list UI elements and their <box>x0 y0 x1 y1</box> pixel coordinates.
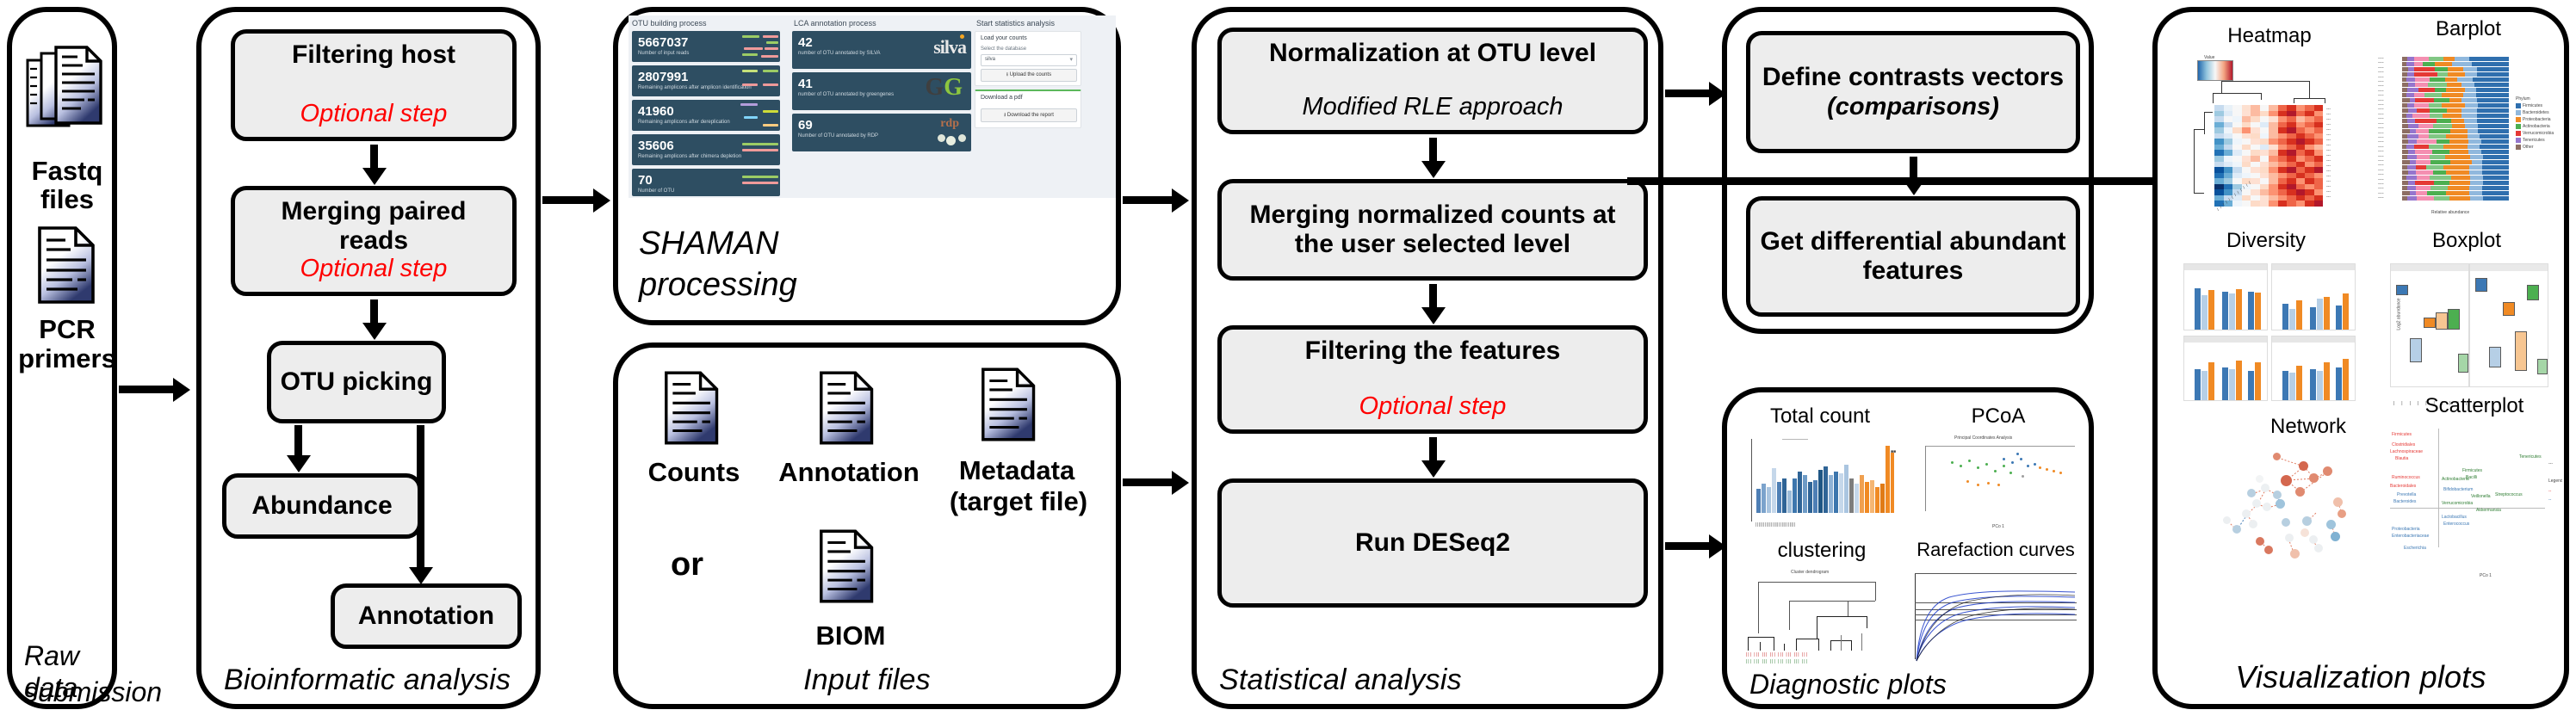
step-merging-paired-reads-title: Merging paired reads <box>244 197 504 255</box>
counts-file-label: Counts <box>629 458 759 486</box>
shaman-column-header-stats: Start statistics analysis <box>976 19 1055 28</box>
pcoa-xlabel: PCo 1 <box>1992 524 2004 529</box>
step-filtering-features[interactable]: Filtering the features Optional step <box>1217 325 1648 434</box>
panel-diagnostic-plots: Total count —————— <box>1722 387 2094 709</box>
arrow-merging-to-otu <box>370 299 378 324</box>
metadata-file-icon <box>980 365 1042 448</box>
upload-icon: ⭳ <box>1006 72 1008 77</box>
boxplot-plot: Log2 abundance |||||||||||| <box>2383 260 2552 406</box>
step-annotation[interactable]: Annotation <box>331 583 522 649</box>
arrow-statistical-to-diagnostic <box>1665 542 1710 550</box>
shaman-otu-card-5-value: 70 <box>638 173 653 188</box>
thumbnail-diversity: Diversity <box>2171 229 2361 410</box>
thumbnail-total-count-title: Total count <box>1736 404 1904 429</box>
shaman-lca-card-silva: 42 number of OTU annotated by SILVA silv… <box>792 31 971 69</box>
thumbnail-total-count: Total count —————— <box>1736 404 1904 534</box>
arrow-rawdata-to-bioinformatic <box>119 386 174 393</box>
shaman-column-header-otu: OTU building process <box>632 19 707 28</box>
silva-mark-icon <box>960 34 964 39</box>
step-define-contrasts-vectors-sub: (comparisons) <box>1827 94 1999 123</box>
step-filtering-features-title: Filtering the features <box>1305 336 1561 366</box>
clustering-plot: Cluster dendrogram <box>1744 570 1899 670</box>
total-count-plot: —————— <box>1751 435 1898 528</box>
thumbnail-rarefaction-title: Rarefaction curves <box>1899 539 2092 561</box>
shaman-lca-card-rdp-value: 69 <box>798 118 813 133</box>
greengenes-logo-icon: GG <box>925 74 963 102</box>
rarefaction-plot <box>1911 571 2078 668</box>
fastq-files-icon <box>24 45 114 157</box>
shaman-lca-card-rdp: 69 Number of OTU annotated by RDP rdp <box>792 114 971 151</box>
panel-visualization-plots: Heatmap Value <box>2152 7 2569 709</box>
bioinformatic-caption: Bioinformatic analysis <box>201 664 558 697</box>
shaman-otu-card-3-desc: Remaining amplicons after dereplication <box>638 120 730 125</box>
arrow-filtering-to-deseq2 <box>1429 437 1437 461</box>
thumbnail-barplot: Barplot --------------------------------… <box>2375 17 2562 224</box>
step-otu-picking[interactable]: OTU picking <box>267 341 446 423</box>
heatmap-color-key-label: Value <box>2204 55 2214 60</box>
shaman-otu-card-2: 2807991 Remaining amplicons after amplic… <box>632 65 780 96</box>
rdp-dot-icon <box>938 134 945 142</box>
step-get-differential-abundant-features-title: Get differential abundant features <box>1759 227 2067 285</box>
step-merging-paired-reads-sub: Optional step <box>300 256 448 285</box>
thumbnail-heatmap-title: Heatmap <box>2178 24 2361 48</box>
fastq-files-label: Fastq files <box>12 157 122 214</box>
step-normalization[interactable]: Normalization at OTU level Modified RLE … <box>1217 28 1648 134</box>
panel-contrasts: Define contrasts vectors (comparisons) G… <box>1722 7 2094 334</box>
plot-xticks: |||||||||||||||||||||||||| <box>1756 522 1796 528</box>
arrow-contrasts-to-differential <box>1910 157 1917 179</box>
thumbnail-pcoa-title: PCoA <box>1908 404 2089 429</box>
line-contrasts-to-visualization <box>1627 177 2170 185</box>
metadata-file-label-line2: (target file) <box>928 487 1109 515</box>
pcoa-subtitle: Principal Coordinates Analysis <box>1954 435 2012 441</box>
panel-input-files: Counts Annotation <box>613 343 1121 709</box>
shaman-otu-card-2-value: 2807991 <box>638 70 688 84</box>
plot-subtitle: —————— <box>1782 437 1808 442</box>
pcr-primers-icon <box>36 225 102 309</box>
arrow-otu-to-abundance <box>294 425 302 456</box>
thumbnail-clustering: clustering Cluster dendrogram <box>1736 539 1908 676</box>
sparkline-icon <box>742 35 780 58</box>
shaman-lca-card-greengenes-desc: number of OTU annotated by greengenes <box>798 92 894 97</box>
shaman-load-counts-title: Load your counts <box>981 35 1027 41</box>
step-filtering-host[interactable]: Filtering host Optional step <box>231 29 517 141</box>
panel-statistical-analysis: Normalization at OTU level Modified RLE … <box>1192 7 1663 709</box>
barplot-plot: ----------------------------------------… <box>2378 48 2561 219</box>
shaman-screenshot: OTU building process LCA annotation proc… <box>629 15 1116 198</box>
statistical-caption: Statistical analysis <box>1197 664 1681 697</box>
shaman-otu-card-2-desc: Remaining amplicons after amplicon ident… <box>638 85 752 90</box>
sparkline-icon <box>742 176 780 189</box>
thumbnail-scatterplot-title: Scatterplot <box>2383 394 2566 418</box>
step-merging-paired-reads[interactable]: Merging paired reads Optional step <box>231 186 517 296</box>
heatmap-grid <box>2214 105 2323 207</box>
shaman-download-report-label: Download the report <box>1007 113 1054 118</box>
step-define-contrasts-vectors-title: Define contrasts vectors <box>1762 63 2064 92</box>
boxplot-ylabel: Log2 abundance <box>2397 298 2402 330</box>
pcr-primers-label-line2: primers <box>12 344 122 373</box>
shaman-lca-card-greengenes: 41 number of OTU annotated by greengenes… <box>792 72 971 110</box>
shaman-select-database-label: Select the database <box>981 46 1026 52</box>
workflow-diagram: Fastq files PCR primers Raw data submiss <box>0 0 2576 716</box>
shaman-lca-card-silva-value: 42 <box>798 35 813 50</box>
chevron-down-icon: ▾ <box>1069 56 1073 63</box>
shaman-caption-line2: processing <box>639 267 797 304</box>
step-abundance[interactable]: Abundance <box>222 473 422 539</box>
sparkline-icon <box>740 103 780 127</box>
counts-file-icon <box>663 368 725 452</box>
clustering-subtitle: Cluster dendrogram <box>1791 570 1829 575</box>
diversity-plot <box>2180 260 2357 406</box>
arrow-normalization-to-merging <box>1429 138 1437 162</box>
thumbnail-barplot-title: Barplot <box>2375 17 2562 41</box>
shaman-lca-card-greengenes-value: 41 <box>798 77 813 91</box>
download-icon: ⭳ <box>1004 113 1006 118</box>
step-abundance-title: Abundance <box>251 491 392 521</box>
thumbnail-diversity-title: Diversity <box>2171 229 2361 253</box>
shaman-download-report-button[interactable]: ⭳ Download the report <box>981 108 1077 122</box>
pcoa-plot: Principal Coordinates Analysis <box>1920 435 2078 530</box>
step-annotation-title: Annotation <box>358 602 494 631</box>
arrow-statistical-to-contrasts <box>1665 89 1710 97</box>
biom-file-icon <box>818 527 880 610</box>
thumbnail-pcoa: PCoA Principal Coordinates Analysis <box>1908 404 2089 534</box>
sparkline-icon <box>742 143 780 158</box>
shaman-otu-card-1: 5667037 Number of input reads <box>632 31 780 62</box>
step-filtering-features-sub: Optional step <box>1359 393 1507 423</box>
step-normalization-sub: Modified RLE approach <box>1302 94 1563 123</box>
step-get-differential-abundant-features[interactable]: Get differential abundant features <box>1746 196 2080 317</box>
shaman-otu-card-3: 41960 Remaining amplicons after dereplic… <box>632 100 780 131</box>
pcr-primers-label-line1: PCR <box>12 315 122 343</box>
shaman-otu-card-4-desc: Remaining amplicons after chimera deplet… <box>638 154 741 159</box>
step-filtering-host-sub: Optional step <box>300 101 448 130</box>
heatmap-row-labels: ----------------------------------------… <box>2326 107 2331 200</box>
step-run-deseq2[interactable]: Run DESeq2 <box>1217 478 1648 608</box>
heatmap-plot: Value <box>2182 55 2357 219</box>
rdp-dot-icon <box>958 134 966 142</box>
shaman-otu-card-3-value: 41960 <box>638 104 674 119</box>
shaman-lca-card-silva-desc: number of OTU annotated by SILVA <box>798 51 881 56</box>
step-merging-normalized-counts-title: Merging normalized counts at the user se… <box>1230 201 1635 258</box>
step-filtering-host-title: Filtering host <box>292 40 455 70</box>
thumbnail-boxplot-title: Boxplot <box>2375 229 2559 253</box>
thumbnail-heatmap: Heatmap Value <box>2178 24 2361 222</box>
shaman-otu-card-4-value: 35606 <box>638 139 674 153</box>
visualization-caption: Visualization plots <box>2158 659 2564 695</box>
input-files-caption: Input files <box>618 664 1116 697</box>
raw-data-caption-line2: submission <box>24 676 162 708</box>
thumbnail-network-title: Network <box>2218 415 2399 439</box>
or-label: or <box>642 547 732 583</box>
thumbnail-rarefaction: Rarefaction curves <box>1899 539 2092 676</box>
shaman-otu-card-4: 35606 Remaining amplicons after chimera … <box>632 134 780 165</box>
shaman-caption-line1: SHAMAN <box>639 225 779 262</box>
clustering-leaf-labels: ||| ||| ||| ||| ||| ||| ||| ||| <box>1746 659 1808 664</box>
arrow-otu-to-annotation <box>417 537 424 568</box>
shaman-otu-card-1-desc: Number of input reads <box>638 51 689 56</box>
thumbnail-network: Network <box>2218 415 2399 613</box>
panel-bioinformatic-analysis: Filtering host Optional step Merging pai… <box>196 7 541 709</box>
annotation-file-icon <box>818 368 880 452</box>
step-define-contrasts-vectors[interactable]: Define contrasts vectors (comparisons) <box>1746 31 2080 153</box>
step-normalization-title: Normalization at OTU level <box>1269 39 1596 68</box>
shaman-otu-card-5-desc: Number of OTU <box>638 188 674 194</box>
shaman-column-header-lca: LCA annotation process <box>794 19 876 28</box>
barplot-legend: Phylum Firmicutes Bacteroidetes Proteoba… <box>2516 96 2554 150</box>
arrow-bioinformatic-to-shaman <box>542 196 594 204</box>
silva-logo-icon: silva <box>933 36 966 59</box>
shaman-lca-card-rdp-desc: Number of OTU annotated by RDP <box>798 133 878 139</box>
rdp-logo-icon: rdp <box>940 117 959 131</box>
shaman-otu-card-5: 70 Number of OTU <box>632 169 780 196</box>
shaman-upload-counts-label: Upload the counts <box>1010 72 1051 77</box>
arrow-shaman-to-statistical <box>1123 196 1173 204</box>
shaman-database-select-value: silva <box>985 57 995 62</box>
step-run-deseq2-title: Run DESeq2 <box>1355 528 1510 558</box>
step-otu-picking-title: OTU picking <box>281 367 433 397</box>
shaman-database-select[interactable]: silva ▾ <box>981 54 1077 66</box>
arrow-inputfiles-to-statistical <box>1123 478 1173 486</box>
sparkline-icon <box>742 70 780 92</box>
shaman-otu-card-1-value: 5667037 <box>638 35 688 50</box>
metadata-file-label-line1: Metadata <box>935 456 1099 485</box>
shaman-download-pdf-title: Download a pdf <box>981 95 1023 101</box>
scatterplot-plot: Firmicutes Clostridiales Lachnospiraceae… <box>2387 425 2562 580</box>
diagnostic-caption: Diagnostic plots <box>1727 669 2111 701</box>
shaman-upload-counts-button[interactable]: ⭳ Upload the counts <box>981 69 1077 82</box>
heatmap-color-key <box>2197 60 2233 81</box>
thumbnail-clustering-title: clustering <box>1736 539 1908 563</box>
panel-shaman-processing: OTU building process LCA annotation proc… <box>613 7 1121 325</box>
thumbnail-boxplot: Boxplot <box>2375 229 2559 410</box>
clustering-leaf-labels: ||| ||| ||| ||| ||| ||| ||| ||| <box>1746 652 1808 657</box>
network-plot <box>2218 442 2399 611</box>
shaman-download-pdf-panel: Download a pdf ⭳ Download the report <box>975 89 1081 128</box>
biom-file-label: BIOM <box>787 621 914 650</box>
annotation-file-label: Annotation <box>756 458 942 486</box>
panel-raw-data: Fastq files PCR primers Raw data submiss <box>7 7 117 709</box>
barplot-xlabel: Relative abundance <box>2431 210 2469 215</box>
step-merging-normalized-counts[interactable]: Merging normalized counts at the user se… <box>1217 179 1648 281</box>
barplot-ylabels: ----------------------------------------… <box>2378 57 2384 201</box>
arrow-merging-to-filtering <box>1429 284 1437 308</box>
rdp-dot-icon <box>946 136 956 145</box>
thumbnail-scatterplot: Scatterplot Firmicutes Clostridiales Lac… <box>2383 394 2566 601</box>
plot-legend: ■■ <box>1891 449 1896 454</box>
barplot-stack-area <box>2402 57 2509 205</box>
arrow-filtering-to-merging <box>370 145 378 169</box>
shaman-load-counts-panel: Load your counts Select the database sil… <box>975 31 1081 86</box>
